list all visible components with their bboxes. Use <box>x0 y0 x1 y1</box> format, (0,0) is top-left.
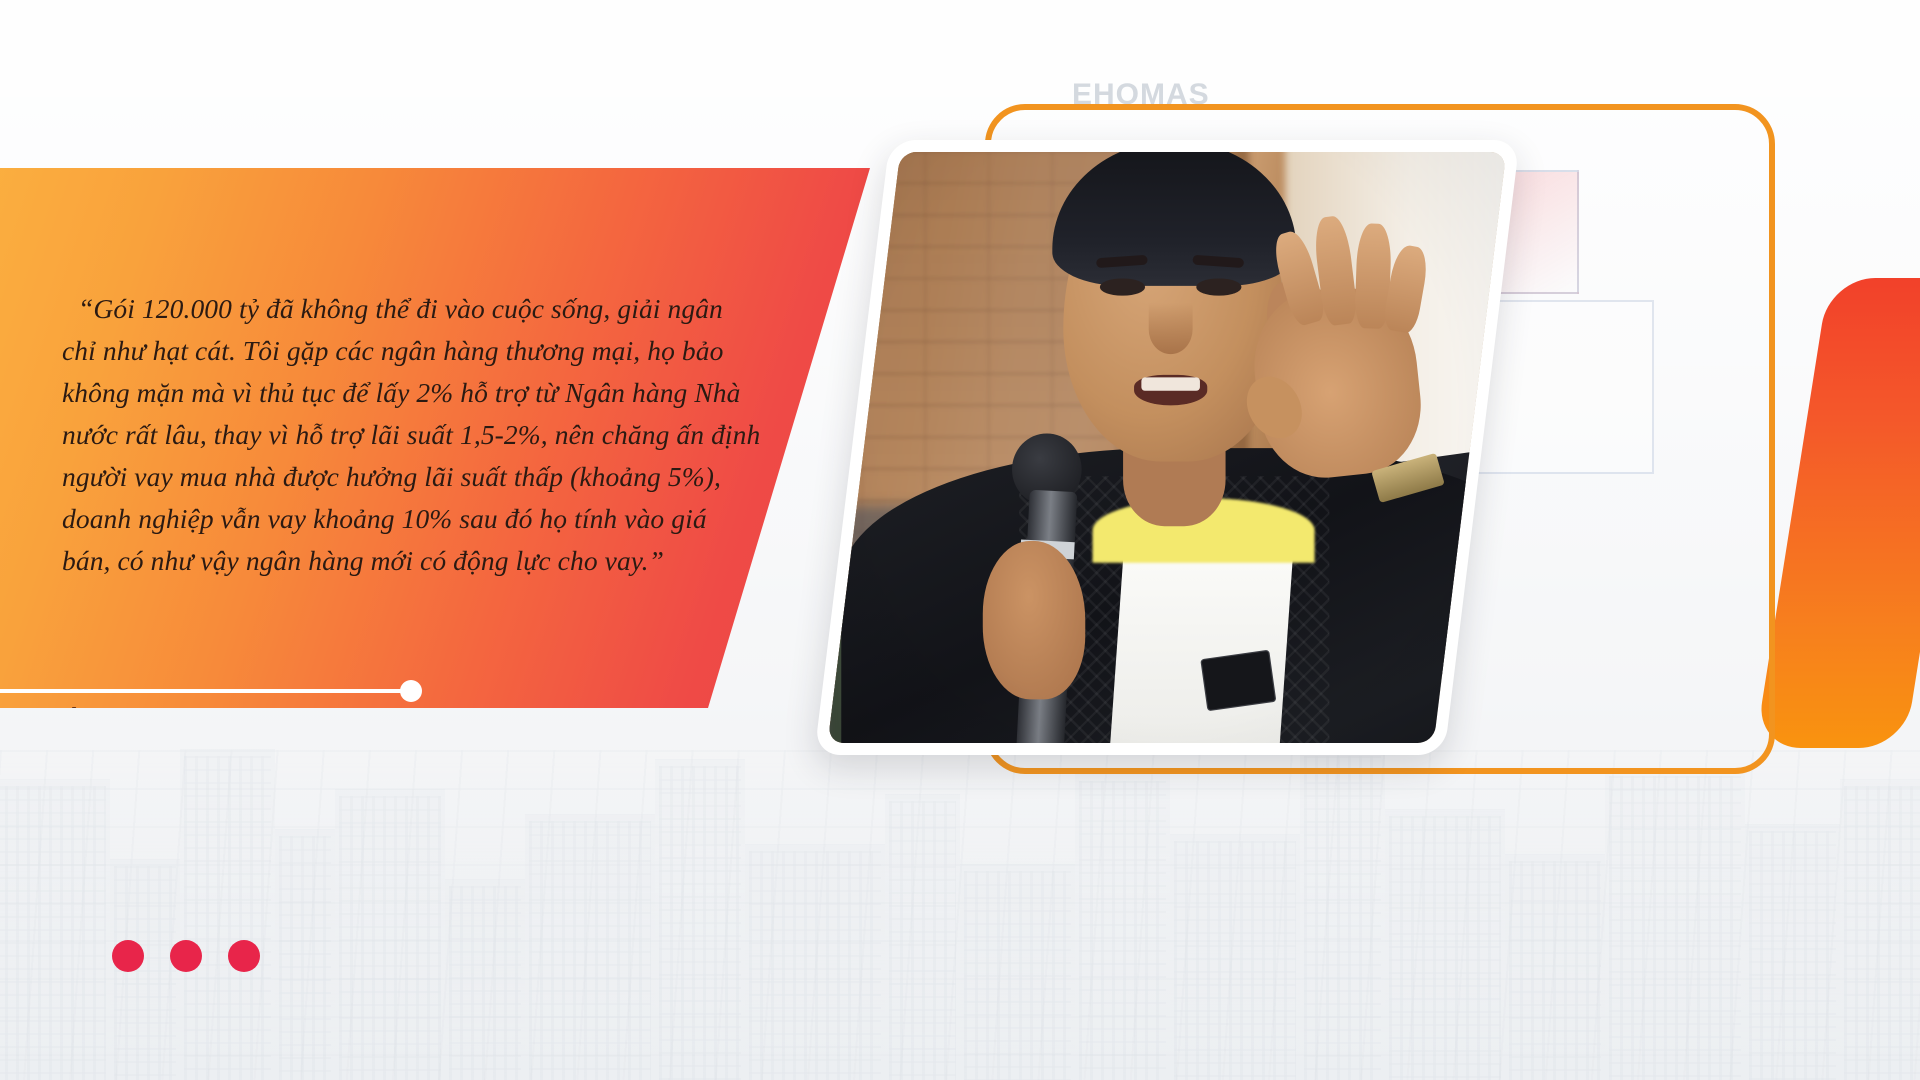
quote-body: “Gói 120.000 tỷ đã không thể đi vào cuộc… <box>62 288 762 582</box>
dot-icon <box>170 940 202 972</box>
portrait-photo <box>828 152 1507 743</box>
infographic-quote-slide: EHOMAS “Gói 120.000 tỷ đã không thể đi v… <box>0 0 1920 1080</box>
dot-icon <box>228 940 260 972</box>
divider-line <box>0 689 420 693</box>
portrait-photo-card <box>814 140 1520 755</box>
dot-icon <box>112 940 144 972</box>
portrait-scene <box>828 152 1507 743</box>
decorative-dots <box>112 940 260 972</box>
quote-text: “Gói 120.000 tỷ đã không thể đi vào cuộc… <box>62 288 762 582</box>
divider-dot <box>400 680 422 702</box>
divider <box>0 680 420 702</box>
